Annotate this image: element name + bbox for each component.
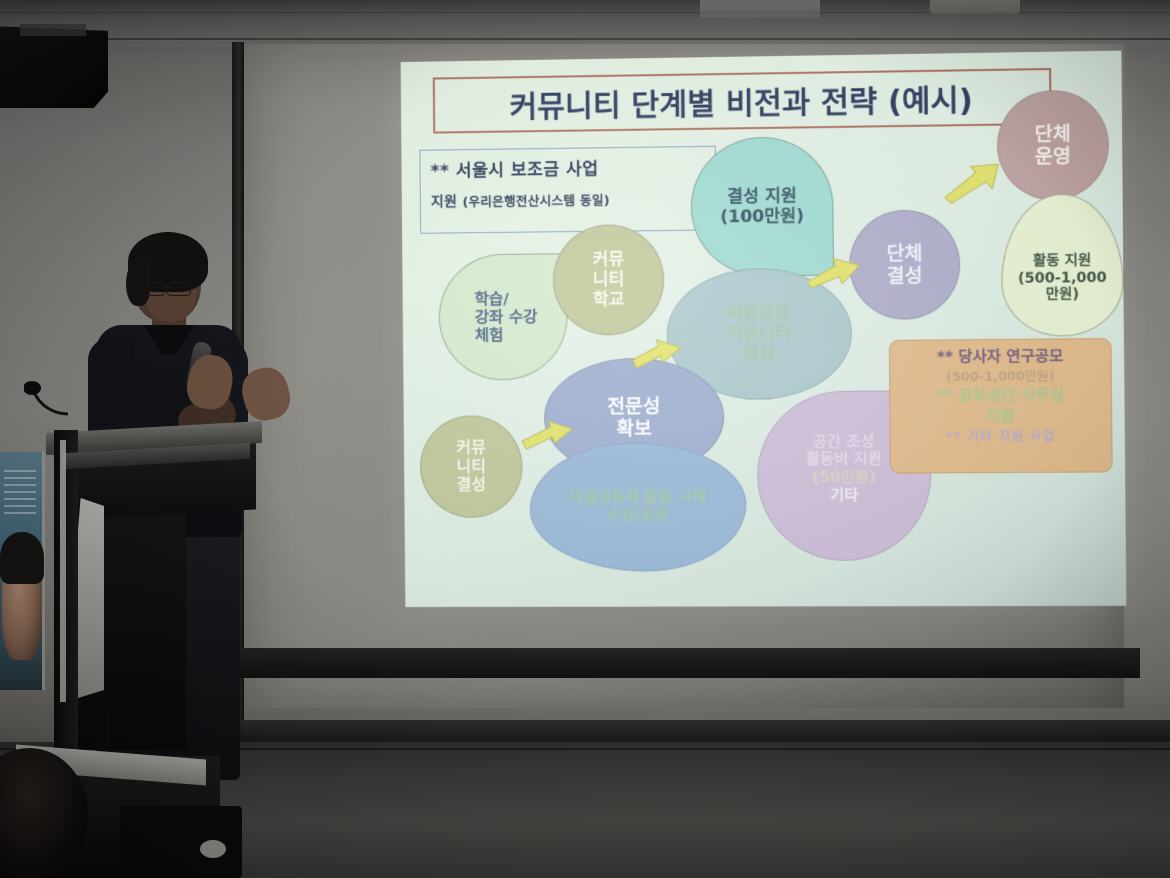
node-group-formation-line2: 결성 xyxy=(887,265,923,288)
node-group-formation-line1: 단체 xyxy=(886,242,922,265)
node-village-community-line2: 커뮤니티 xyxy=(727,324,791,345)
chair-caster xyxy=(200,840,226,858)
node-community-school-line1: 커뮤 xyxy=(592,250,624,270)
poster-text-block xyxy=(4,470,36,516)
node-learning-course-line3: 체험 xyxy=(475,326,538,345)
node-community-school: 커뮤 니티 학교 xyxy=(553,224,665,336)
subsidy-note-line2: 지원 (우리은행전산시스템 동일) xyxy=(431,188,707,211)
orange-note-line5: ** 기타 지원 사업 xyxy=(946,429,1056,445)
ceiling-seam xyxy=(0,38,1170,40)
node-group-operation-line2: 운영 xyxy=(1035,145,1071,168)
node-activity-support-line1: 활동 지원 xyxy=(1018,253,1107,271)
node-village-community-line3: 결성 xyxy=(727,344,791,365)
orange-note-line3: ** 공유공간·사무실 xyxy=(937,387,1064,406)
node-activity-support-line3: 만원) xyxy=(1018,286,1107,304)
node-bottom-blue-line2: 수강/공유 xyxy=(570,507,706,525)
arrow-to-village xyxy=(630,336,683,371)
node-community-formation-line3: 결성 xyxy=(457,476,487,495)
node-community-formation-line1: 커뮤 xyxy=(456,438,486,457)
node-activity-support: 활동 지원 (500-1,000 만원) xyxy=(1001,193,1124,337)
white-side-panel xyxy=(78,498,104,698)
orange-note-panel: ** 당사자 연구공모 (500-1,000만원) ** 공유공간·사무실 지원… xyxy=(889,338,1113,474)
node-space-activity-line4: 기타 xyxy=(806,486,882,504)
node-group-formation: 단체 결성 xyxy=(849,209,961,320)
node-bottom-blue-line1: 마을공동체 활동 사례 xyxy=(570,489,706,507)
glasses-icon xyxy=(141,282,199,294)
node-expertise-line1: 전문성 xyxy=(607,395,660,418)
orange-note-line1: ** 당사자 연구공모 xyxy=(937,348,1064,367)
arrow-to-formation xyxy=(805,253,863,290)
node-learning-course-line2: 강좌 수강 xyxy=(475,308,538,327)
projected-slide: 커뮤니티 단계별 비전과 전략 (예시) ** 서울시 보조금 사업 지원 (우… xyxy=(401,51,1127,607)
node-formation-support-line2: (100만원) xyxy=(720,206,804,227)
node-community-formation: 커뮤 니티 결성 xyxy=(420,415,523,518)
node-learning-course: 학습/ 강좌 수강 체험 xyxy=(438,253,568,381)
ceiling-light-fixture-2 xyxy=(930,0,1020,14)
ceiling-speaker-icon xyxy=(0,26,108,108)
speaker-bracket xyxy=(20,24,86,36)
node-village-community-line1: 마을공동 xyxy=(727,303,791,324)
ceiling-light-fixture xyxy=(700,0,820,18)
screenshot-root: 커뮤니티 단계별 비전과 전략 (예시) ** 서울시 보조금 사업 지원 (우… xyxy=(0,0,1170,878)
node-expertise-line2: 확보 xyxy=(607,417,660,440)
node-learning-course-line1: 학습/ xyxy=(474,289,537,308)
screen-bottom-frame xyxy=(230,648,1140,678)
node-activity-support-line2: (500-1,000 xyxy=(1018,270,1107,288)
slide-title: 커뮤니티 단계별 비전과 전략 (예시) xyxy=(433,68,1052,134)
node-bottom-blue: 마을공동체 활동 사례 수강/공유 xyxy=(529,442,747,572)
node-space-activity-line3: (50만원) xyxy=(806,469,882,487)
gooseneck-microphone-icon xyxy=(24,372,70,416)
node-space-activity-line1: 공간 조성 xyxy=(806,433,882,451)
orange-note-line2: (500-1,000만원) xyxy=(946,369,1055,385)
node-formation-support-line1: 결성 지원 xyxy=(720,186,804,207)
subsidy-note-line2-prefix: 지원 xyxy=(431,194,458,210)
orange-note-line4: 지원 xyxy=(986,408,1015,426)
glasses-bridge xyxy=(163,286,173,288)
subsidy-note-line2-paren: (우리은행전산시스템 동일) xyxy=(462,192,610,209)
node-group-operation-line1: 단체 xyxy=(1035,122,1071,145)
poster-portrait-hair xyxy=(0,532,44,584)
node-space-activity-line2: 활동비 지원 xyxy=(806,451,882,469)
subsidy-note-box: ** 서울시 보조금 사업 지원 (우리은행전산시스템 동일) xyxy=(419,146,716,234)
node-group-operation: 단체 운영 xyxy=(997,90,1110,201)
foreground-chair xyxy=(120,806,242,878)
node-community-school-line3: 학교 xyxy=(593,290,625,310)
arrow-to-operation xyxy=(943,158,1003,203)
subsidy-note-line1: ** 서울시 보조금 사업 xyxy=(430,153,706,182)
arrow-to-expertise xyxy=(520,419,577,453)
node-community-school-line2: 니티 xyxy=(593,270,625,290)
node-community-formation-line2: 니티 xyxy=(456,457,486,476)
